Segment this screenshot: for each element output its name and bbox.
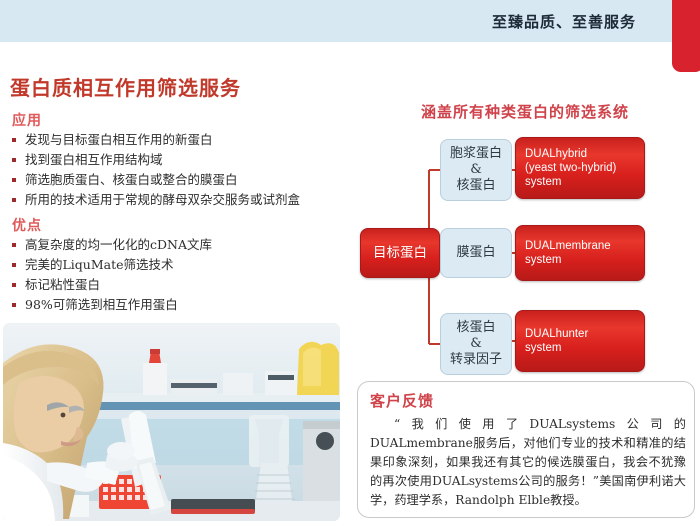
diagram-node-system-0: DUALhybrid (yeast two-hybrid) system xyxy=(515,137,645,199)
header-tagline: 至臻品质、至善服务 xyxy=(492,11,636,32)
list-item: 筛选胞质蛋白、核蛋白或整合的膜蛋白 xyxy=(10,171,300,188)
diagram-title: 涵盖所有种类蛋白的筛选系统 xyxy=(360,101,690,122)
list-item: 高复杂度的均一化化的cDNA文库 xyxy=(10,236,212,253)
node-label: 核蛋白 & 转录因子 xyxy=(450,320,502,368)
node-label: 胞浆蛋白 & 核蛋白 xyxy=(450,146,502,194)
advantages-list: 高复杂度的均一化化的cDNA文库 完美的LiquMate筛选技术 标记粘性蛋白 … xyxy=(10,236,212,316)
lab-photo-illustration xyxy=(3,323,340,521)
node-label: DUALmembrane system xyxy=(525,239,611,267)
page-title: 蛋白质相互作用筛选服务 xyxy=(10,72,241,101)
lab-photo xyxy=(3,323,340,521)
section-heading-advantages: 优点 xyxy=(12,215,42,235)
screening-system-diagram: 目标蛋白 胞浆蛋白 & 核蛋白 膜蛋白 核蛋白 & 转录因子 DUALhybri… xyxy=(355,125,700,370)
list-item: 标记粘性蛋白 xyxy=(10,276,212,293)
node-label: DUALhunter system xyxy=(525,327,588,355)
node-label: DUALhybrid (yeast two-hybrid) system xyxy=(525,147,616,189)
customer-feedback-quote: “我们使用了DUALsystems公司的DUALmembrane服务后，对他们专… xyxy=(370,415,686,510)
header-red-tab xyxy=(672,0,700,72)
node-label: 膜蛋白 xyxy=(456,245,495,261)
diagram-node-category-0: 胞浆蛋白 & 核蛋白 xyxy=(440,139,512,201)
list-item: 完美的LiquMate筛选技术 xyxy=(10,256,212,273)
applications-list: 发现与目标蛋白相互作用的新蛋白 找到蛋白相互作用结构域 筛选胞质蛋白、核蛋白或整… xyxy=(10,131,300,211)
diagram-node-system-2: DUALhunter system xyxy=(515,310,645,372)
section-heading-applications: 应用 xyxy=(12,110,42,130)
list-item: 所用的技术适用于常规的酵母双杂交服务或试剂盒 xyxy=(10,191,300,208)
diagram-node-category-1: 膜蛋白 xyxy=(440,228,512,278)
diagram-node-category-2: 核蛋白 & 转录因子 xyxy=(440,313,512,375)
diagram-node-target-protein: 目标蛋白 xyxy=(360,228,440,278)
diagram-node-system-1: DUALmembrane system xyxy=(515,225,645,281)
customer-feedback-title: 客户反馈 xyxy=(370,390,434,411)
list-item: 找到蛋白相互作用结构域 xyxy=(10,151,300,168)
list-item: 98%可筛选到相互作用蛋白 xyxy=(10,296,212,313)
list-item: 发现与目标蛋白相互作用的新蛋白 xyxy=(10,131,300,148)
customer-feedback-box: 客户反馈 “我们使用了DUALsystems公司的DUALmembrane服务后… xyxy=(357,381,695,518)
